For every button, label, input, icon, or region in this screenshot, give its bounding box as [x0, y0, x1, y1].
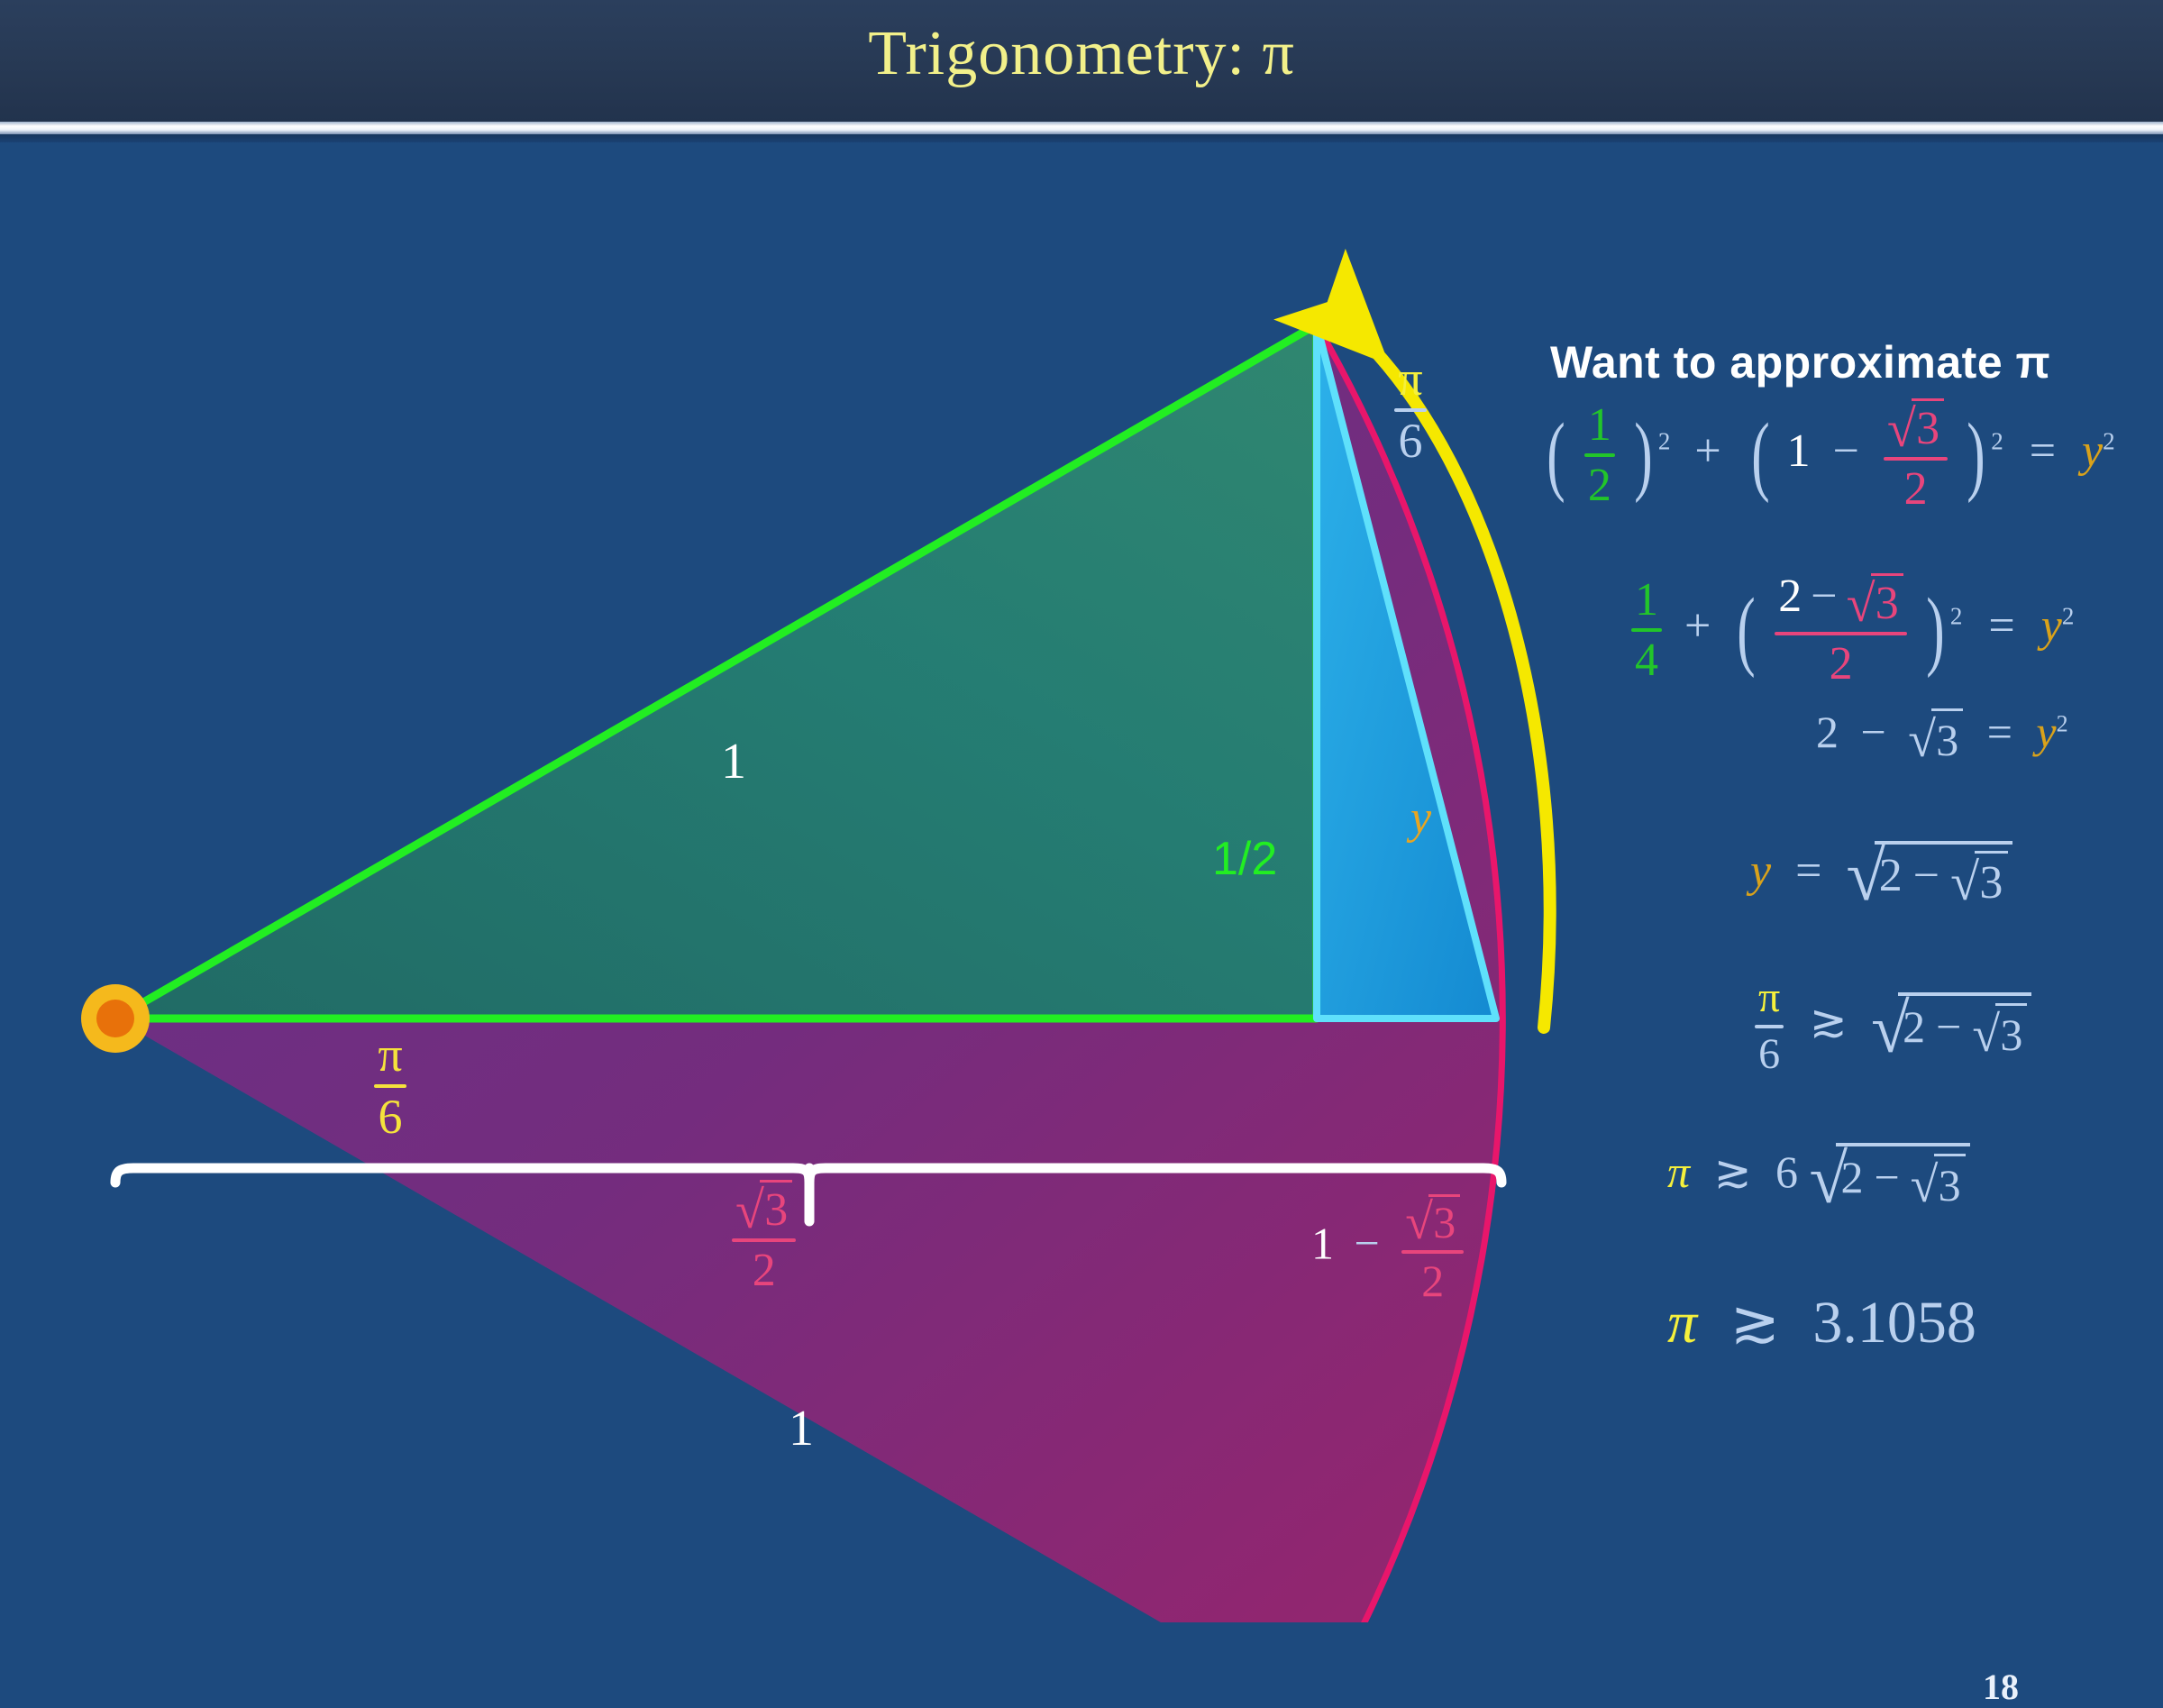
page-number: 18: [1983, 1666, 2019, 1708]
eq1-exponent-2: 2: [1991, 427, 2003, 454]
segment-fraction-bar: [1401, 1250, 1464, 1254]
eq2-y: y: [2041, 600, 2062, 652]
base-denominator: 2: [730, 1247, 798, 1294]
label-base-root3-over-2: √3 2: [730, 1179, 798, 1294]
segment-minus: −: [1346, 1218, 1389, 1268]
eq1-exponent: 2: [1658, 427, 1671, 454]
open-paren-2: (: [1751, 404, 1769, 506]
eq2-y-exponent: 2: [2062, 602, 2075, 629]
eq2-denominator: 4: [1629, 636, 1664, 684]
open-paren: (: [1547, 404, 1565, 506]
equation-panel: Want to approximate π ( 1 2 )2 + ( 1 − √…: [1532, 336, 2154, 1616]
eq1-y: y: [2082, 425, 2103, 477]
eq1-root3: √3: [1882, 397, 1949, 452]
eq3-y: y: [2036, 707, 2056, 757]
eq1-fraction-bar: [1584, 453, 1615, 457]
eq7-approx: ≳: [1712, 1290, 1798, 1356]
close-paren: ): [1634, 404, 1652, 506]
equation-7: π ≳ 3.1058: [1667, 1287, 1976, 1357]
eq5-pi: π: [1753, 976, 1785, 1020]
eq3-equals: =: [1975, 707, 2025, 757]
eq2-equals: =: [1974, 600, 2029, 652]
equation-5: π 6 ≳ √ 2−√3: [1753, 976, 2031, 1077]
eq3-minus: −: [1850, 707, 1897, 757]
eq1-plus: +: [1682, 425, 1733, 477]
equation-2: 1 4 + ( 2−√3 2 )2 = y2: [1629, 572, 2074, 688]
label-segment-one-minus-root3-over-2: 1 − √3 2: [1311, 1192, 1465, 1304]
eq4-equals: =: [1783, 845, 1834, 897]
eq7-pi: π: [1667, 1290, 1697, 1356]
angle-fraction-bar: [374, 1084, 406, 1088]
segment-one: 1: [1311, 1218, 1334, 1268]
close-paren-2: ): [1967, 404, 1985, 506]
eq7-value: 3.1058: [1812, 1290, 1976, 1356]
arc-pi-numerator: π: [1392, 354, 1428, 404]
eq2-fraction-bar-2: [1775, 632, 1907, 635]
eq3-two: 2: [1816, 707, 1839, 757]
eq3-y-exponent: 2: [2057, 710, 2068, 736]
eq2-numerator-2: 2−√3: [1773, 572, 1909, 627]
equation-1: ( 1 2 )2 + ( 1 − √3 2 )2 = y2: [1541, 397, 2115, 513]
label-arc-pi-over-six: π 6: [1370, 354, 1451, 466]
arc-six-denominator: 6: [1392, 416, 1428, 466]
eq2-denominator-2: 2: [1773, 640, 1909, 688]
main-triangle: [115, 324, 1317, 1018]
eq1-equals: =: [2015, 425, 2070, 477]
equation-4: y = √ 2−√3: [1750, 841, 2012, 909]
eq2-fraction-bar: [1631, 628, 1662, 632]
eq4-outer-radical: √ 2−√3: [1846, 841, 2012, 909]
segment-denominator: 2: [1400, 1258, 1465, 1304]
label-brace-one: 1: [789, 1400, 814, 1457]
eq5-fraction-bar: [1755, 1025, 1784, 1028]
eq1-numerator: 1: [1583, 401, 1617, 449]
equation-6: π ≳ 6 √ 2−√3: [1667, 1143, 1970, 1211]
segment-root3: √3: [1400, 1192, 1465, 1246]
eq1-denominator-2: 2: [1882, 465, 1949, 513]
eq2-exponent: 2: [1950, 602, 1963, 629]
eq6-outer-radical: √ 2−√3: [1809, 1143, 1969, 1211]
base-root3: √3: [730, 1179, 798, 1234]
panel-heading: Want to approximate π: [1550, 336, 2050, 388]
label-chord-y: y: [1410, 791, 1431, 845]
eq1-one: 1: [1787, 425, 1811, 477]
equation-3: 2 − √3 = y2: [1816, 706, 2068, 766]
eq6-six: 6: [1775, 1146, 1798, 1197]
open-paren-3: (: [1738, 579, 1756, 680]
arc-fraction-bar: [1394, 408, 1426, 412]
eq1-minus: −: [1822, 425, 1870, 477]
label-hypotenuse: 1: [721, 733, 746, 790]
eq5-six: 6: [1753, 1033, 1785, 1077]
close-paren-3: ): [1926, 579, 1944, 680]
slide-body: 1 1/2 π 6 π 6 y √3 2 1 − √3 2 1 Want to …: [0, 142, 2163, 1622]
eq3-root3: √3: [1908, 708, 1963, 766]
angle-six-denominator: 6: [372, 1092, 407, 1142]
eq2-plus: +: [1675, 600, 1720, 652]
label-half: 1/2: [1212, 832, 1277, 886]
eq1-y-exponent: 2: [2103, 427, 2115, 454]
eq5-approx: ≳: [1797, 996, 1860, 1046]
eq4-y: y: [1750, 845, 1771, 897]
eq6-approx: ≳: [1702, 1146, 1765, 1197]
eq5-outer-radical: √ 2−√3: [1871, 992, 2031, 1061]
eq2-numerator: 1: [1629, 576, 1664, 624]
eq6-pi: π: [1667, 1146, 1690, 1197]
vertex-dot: [81, 984, 150, 1053]
label-angle-pi-over-six: π 6: [350, 1030, 431, 1142]
angle-pi-numerator: π: [372, 1030, 407, 1080]
eq1-denominator: 2: [1583, 461, 1617, 509]
